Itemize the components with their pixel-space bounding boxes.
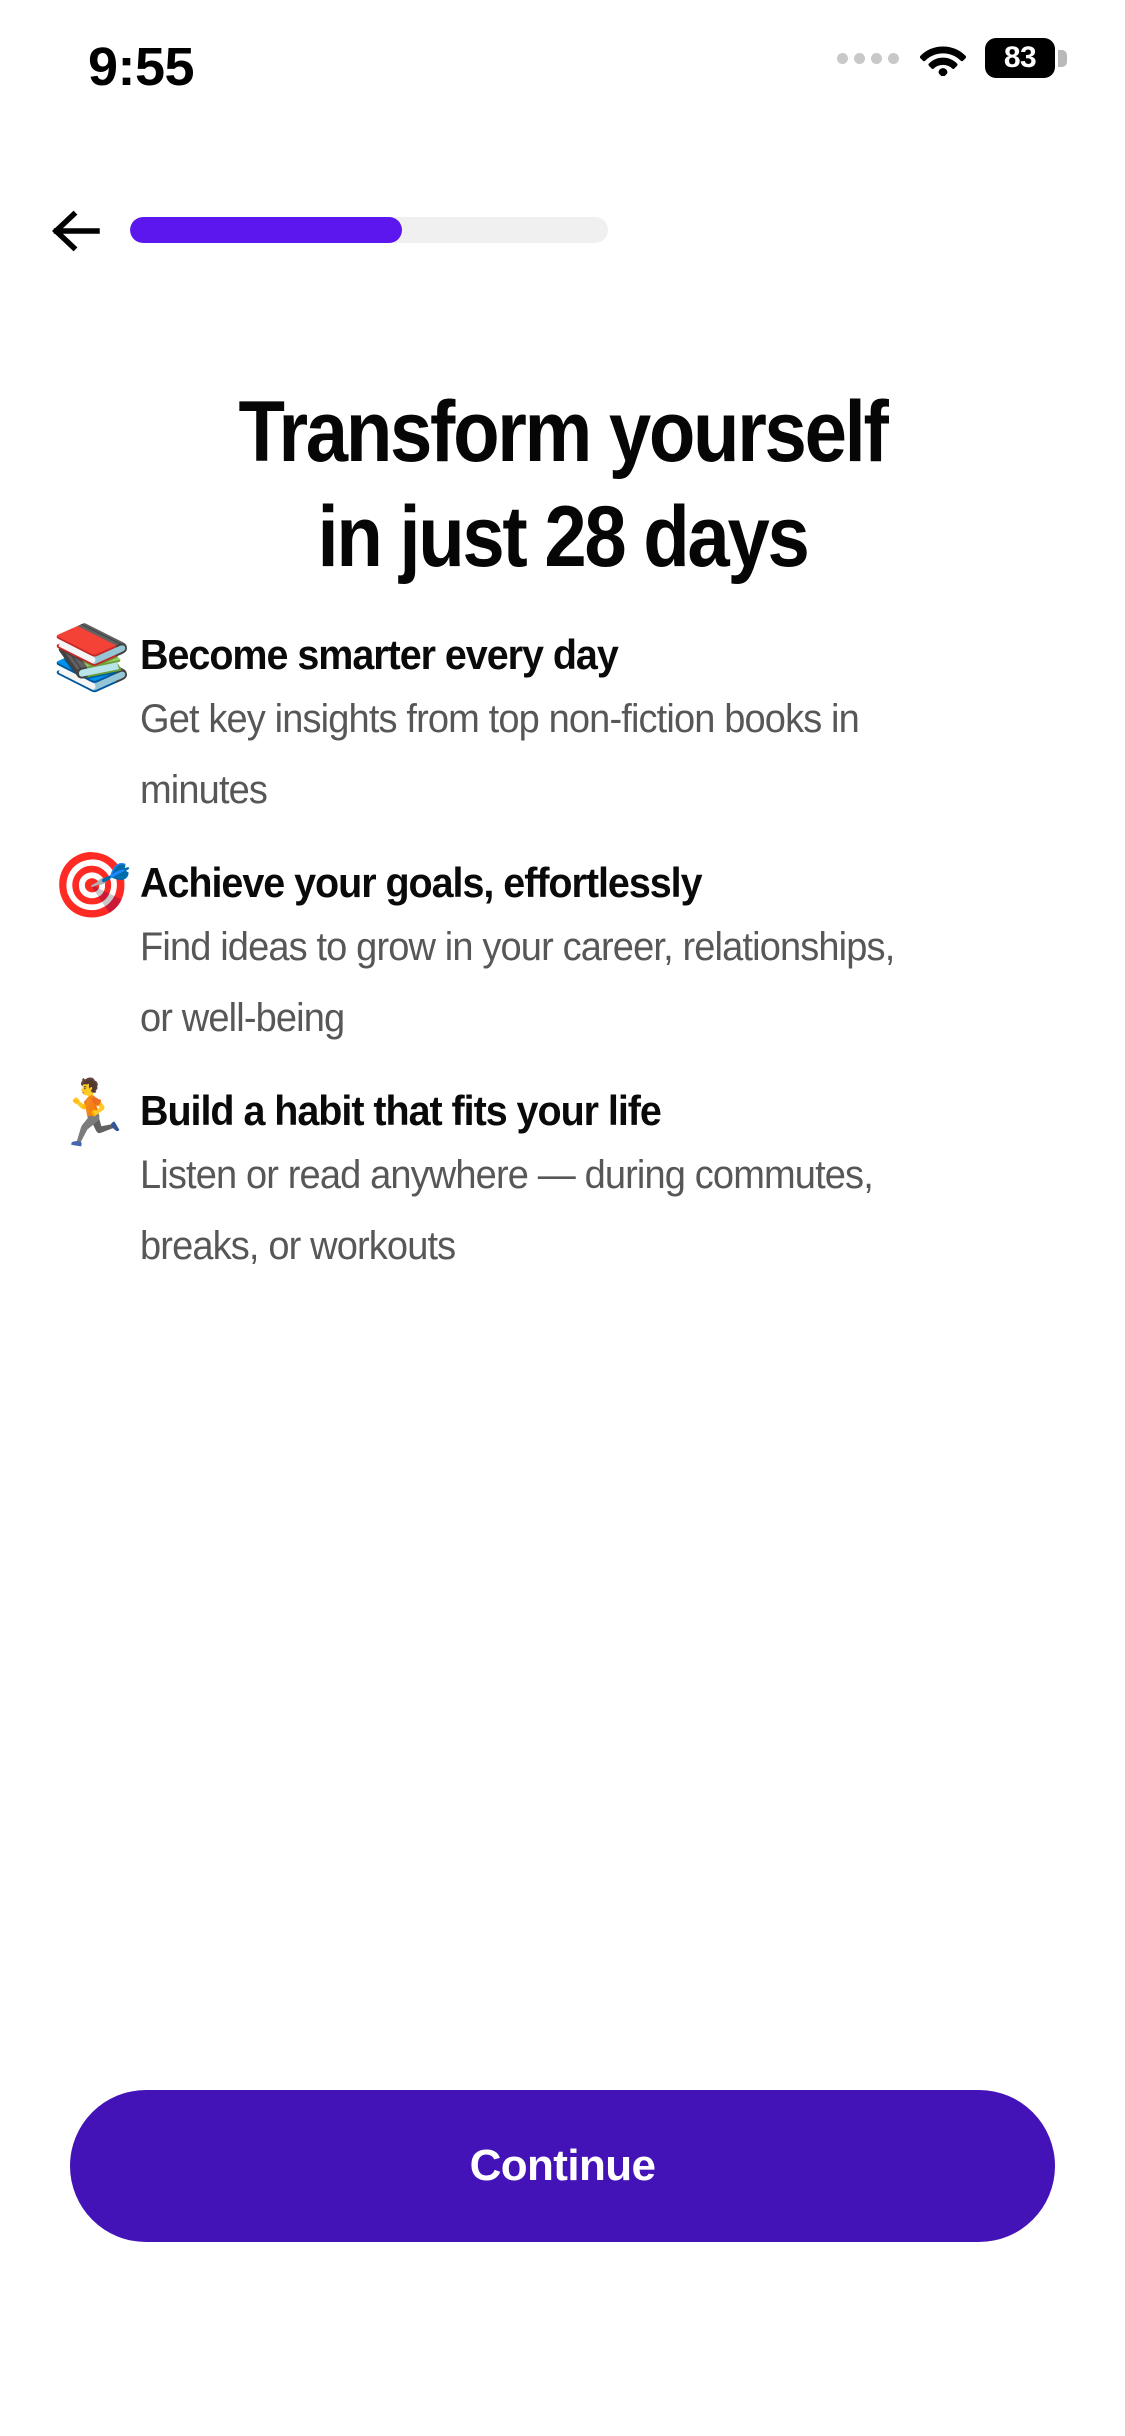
feature-text-0: Become smarter every day Get key insight… (140, 620, 1081, 826)
feature-text-2: Build a habit that fits your life Listen… (140, 1076, 1081, 1282)
feature-title-2: Build a habit that fits your life (140, 1086, 1025, 1136)
page-title-line-2: in just 28 days (317, 489, 807, 585)
back-button[interactable] (40, 196, 114, 266)
progress-bar-fill (130, 217, 402, 243)
status-bar: 9:55 83 (0, 0, 1125, 132)
status-bar-time: 9:55 (88, 36, 194, 98)
status-bar-indicators: 83 (837, 38, 1067, 78)
feature-item-0: 📚 Become smarter every day Get key insig… (0, 620, 1125, 826)
onboarding-progress-bar (130, 217, 608, 243)
battery-terminal (1058, 50, 1067, 67)
page-title-line-1: Transform yourself (238, 384, 886, 480)
feature-item-1: 🎯 Achieve your goals, effortlessly Find … (0, 848, 1125, 1054)
feature-item-2: 🏃 Build a habit that fits your life List… (0, 1076, 1125, 1282)
page-title: Transform yourself in just 28 days (127, 380, 999, 590)
cellular-signal-icon (837, 53, 899, 64)
battery-level-label: 83 (1004, 43, 1036, 73)
continue-button[interactable]: Continue (70, 2090, 1055, 2242)
runner-emoji: 🏃 (44, 1076, 140, 1150)
feature-description-0: Get key insights from top non-fiction bo… (140, 684, 929, 826)
battery-body: 83 (985, 38, 1055, 78)
feature-description-1: Find ideas to grow in your career, relat… (140, 912, 929, 1054)
books-emoji: 📚 (44, 620, 140, 694)
feature-title-0: Become smarter every day (140, 630, 1025, 680)
feature-description-2: Listen or read anywhere — during commute… (140, 1140, 929, 1282)
navigation-bar (0, 196, 1125, 266)
bullseye-dart-emoji: 🎯 (44, 848, 140, 922)
back-arrow-icon (49, 207, 105, 255)
feature-title-1: Achieve your goals, effortlessly (140, 858, 1025, 908)
feature-text-1: Achieve your goals, effortlessly Find id… (140, 848, 1081, 1054)
feature-list: 📚 Become smarter every day Get key insig… (0, 620, 1125, 1304)
wifi-icon (919, 40, 967, 76)
battery-icon: 83 (985, 38, 1067, 78)
